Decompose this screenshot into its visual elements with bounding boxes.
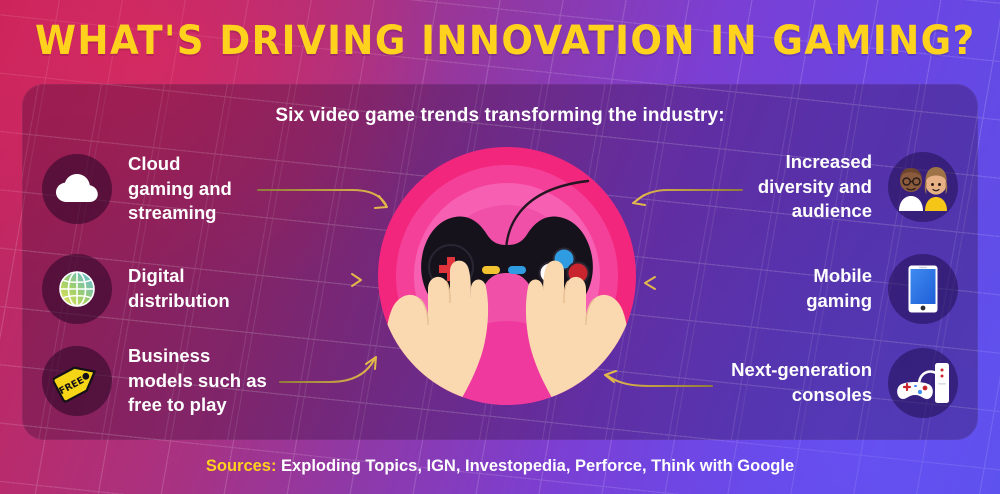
price-tag-glyph: FREE [53,358,101,404]
cloud-icon [42,154,112,224]
trend-label: Cloud gaming and streaming [128,152,232,226]
trend-item-cloud-gaming[interactable]: Cloud gaming and streaming [42,152,232,226]
trend-item-business-models[interactable]: FREE Business models such as free to pla… [42,344,267,418]
trend-label: Digital distribution [128,264,230,313]
trend-label: Business models such as free to play [128,344,267,418]
trend-item-next-gen-consoles[interactable]: Next-generation consoles [731,348,958,418]
subtitle: Six video game trends transforming the i… [0,105,1000,127]
sources-label: Sources: [206,457,277,475]
sources-footer: Sources: Exploding Topics, IGN, Investop… [0,457,1000,476]
console-controller-glyph [895,361,951,405]
smartphone-icon [888,254,958,324]
trend-label: Increased diversity and audience [758,150,872,224]
trend-label: Next-generation consoles [731,358,872,407]
cloud-glyph [56,174,98,204]
two-people-icon [888,152,958,222]
console-controller-icon [888,348,958,418]
hands-holding-gamepad-illustration [378,147,636,405]
smartphone-glyph [908,265,938,313]
globe-icon [42,254,112,324]
trend-item-digital-distribution[interactable]: Digital distribution [42,254,230,324]
infographic-root: WHAT'S DRIVING INNOVATION IN GAMING? Six… [0,0,1000,494]
trend-label: Mobile gaming [806,264,872,313]
sources-text: Exploding Topics, IGN, Investopedia, Per… [276,457,794,475]
globe-glyph [55,267,99,311]
two-people-glyph [897,163,949,211]
free-price-tag-icon: FREE [42,346,112,416]
page-title: WHAT'S DRIVING INNOVATION IN GAMING? [35,18,965,64]
gamepad-artwork [378,147,636,405]
trend-item-mobile-gaming[interactable]: Mobile gaming [806,254,958,324]
trend-item-increased-diversity[interactable]: Increased diversity and audience [758,150,958,224]
